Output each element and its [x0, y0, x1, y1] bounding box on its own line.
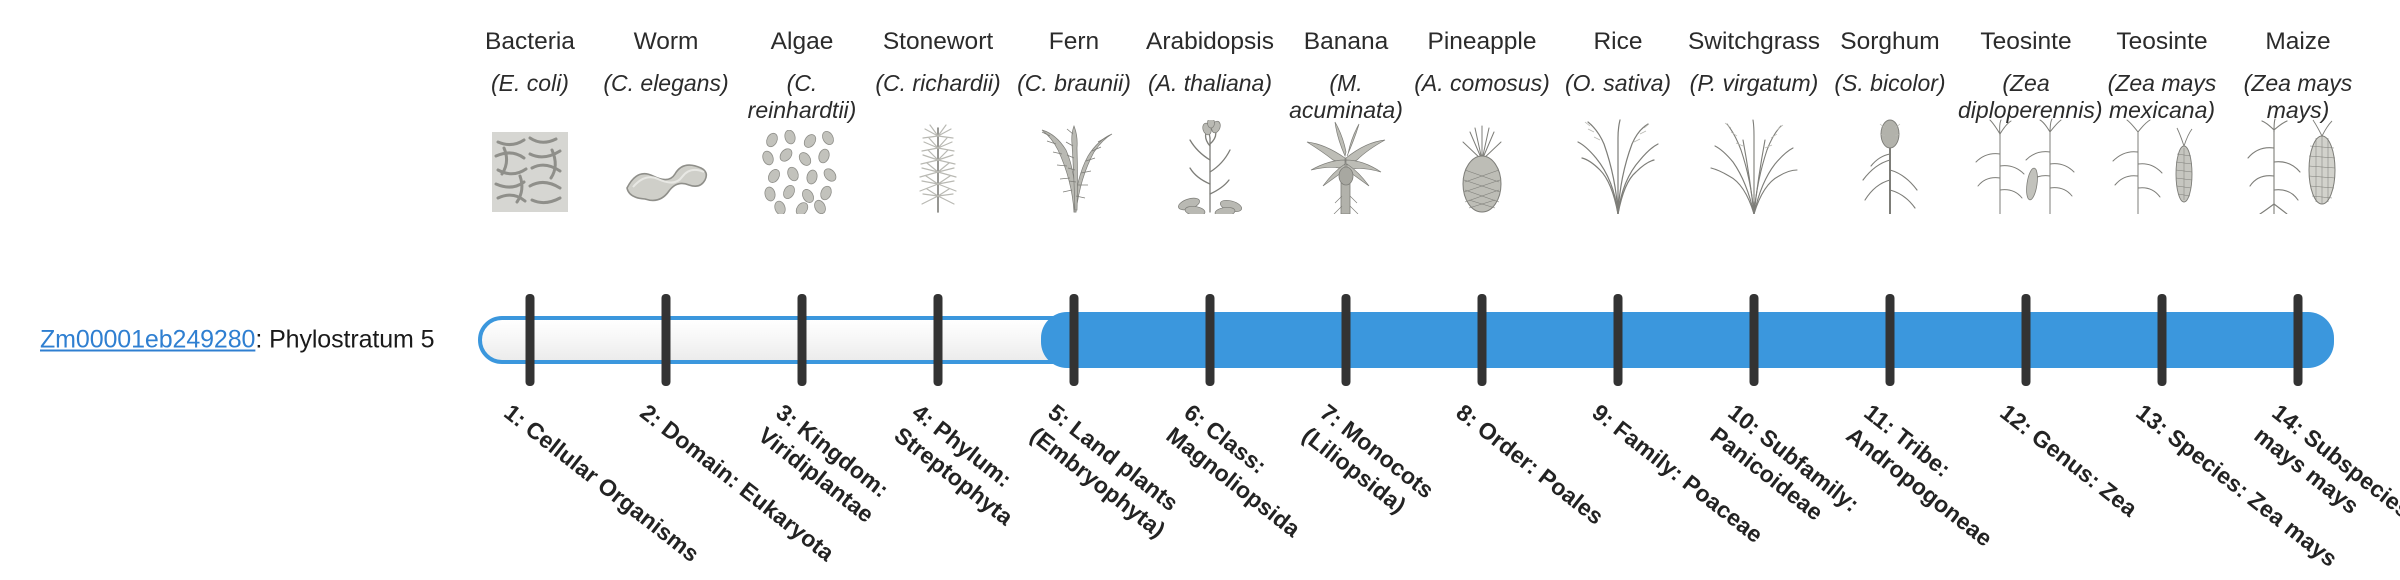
- phylostratum-tick: [526, 294, 535, 386]
- pineapple-illustration: [1430, 116, 1534, 214]
- species-column: Fern(C. braunii): [1006, 28, 1142, 97]
- species-column: Switchgrass(P. virgatum): [1686, 28, 1822, 97]
- maize-illustration: [2246, 116, 2350, 214]
- species-common-name: Arabidopsis: [1142, 28, 1278, 57]
- phylostratum-tick: [1886, 294, 1895, 386]
- phylostratum-tick: [934, 294, 943, 386]
- phylostratum-tick: [1070, 294, 1079, 386]
- phylostratum-tick: [1342, 294, 1351, 386]
- gene-phylostratum-status: Phylostratum 5: [269, 326, 434, 354]
- species-scientific-name: (A. comosus): [1414, 70, 1550, 97]
- species-row: Bacteria(E. coli) Worm(C. elegans) Algae…: [478, 28, 2330, 298]
- arabidopsis-illustration: [1158, 116, 1262, 214]
- phylostratum-progress-bar[interactable]: [478, 316, 2330, 364]
- species-common-name: Bacteria: [462, 28, 598, 57]
- species-scientific-name: (C. richardii): [870, 70, 1006, 97]
- phylostratum-tick: [1614, 294, 1623, 386]
- stratum-name: Order: Poales: [1473, 416, 1609, 530]
- species-common-name: Rice: [1550, 28, 1686, 57]
- bacteria-illustration: [478, 116, 582, 214]
- species-column: Pineapple(A. comosus): [1414, 28, 1550, 97]
- phylostratum-tick: [1206, 294, 1215, 386]
- species-column: Rice(O. sativa): [1550, 28, 1686, 97]
- species-scientific-name: (E. coli): [462, 70, 598, 97]
- rice-illustration: [1566, 116, 1670, 214]
- teosinte-diplo-illustration: [1974, 116, 2078, 214]
- stratum-name: Genus: Zea: [2027, 423, 2143, 521]
- phylostratum-tick: [2022, 294, 2031, 386]
- species-scientific-name: (P. virgatum): [1686, 70, 1822, 97]
- species-scientific-name: (A. thaliana): [1142, 70, 1278, 97]
- species-column: Algae(C. reinhardtii): [734, 28, 870, 124]
- phylostratum-tick: [1478, 294, 1487, 386]
- gene-label-separator: :: [255, 326, 269, 354]
- switchgrass-illustration: [1702, 116, 1806, 214]
- sorghum-illustration: [1838, 116, 1942, 214]
- species-common-name: Maize: [2230, 28, 2366, 57]
- stonewort-illustration: [886, 116, 990, 214]
- species-scientific-name: (C. elegans): [598, 70, 734, 97]
- species-column: Arabidopsis(A. thaliana): [1142, 28, 1278, 97]
- species-column: Bacteria(E. coli): [462, 28, 598, 97]
- species-column: Stonewort(C. richardii): [870, 28, 1006, 97]
- species-scientific-name: (O. sativa): [1550, 70, 1686, 97]
- species-common-name: Teosinte: [2094, 28, 2230, 57]
- phylostratum-figure: Zm00001eb249280: Phylostratum 5 Bacteria…: [0, 0, 2400, 580]
- gene-label: Zm00001eb249280: Phylostratum 5: [40, 326, 434, 355]
- species-common-name: Sorghum: [1822, 28, 1958, 57]
- fern-illustration: [1022, 116, 1126, 214]
- teosinte-mex-illustration: [2110, 116, 2214, 214]
- phylostratum-tick: [2294, 294, 2303, 386]
- species-column: Sorghum(S. bicolor): [1822, 28, 1958, 97]
- species-common-name: Banana: [1278, 28, 1414, 57]
- species-column: Maize(Zea mays mays): [2230, 28, 2366, 124]
- stratum-number: 12:: [1995, 399, 2037, 440]
- phylostratum-tick: [662, 294, 671, 386]
- phylostratum-tick: [2158, 294, 2167, 386]
- species-scientific-name: (S. bicolor): [1822, 70, 1958, 97]
- species-common-name: Worm: [598, 28, 734, 57]
- species-common-name: Teosinte: [1958, 28, 2094, 57]
- species-common-name: Pineapple: [1414, 28, 1550, 57]
- species-common-name: Algae: [734, 28, 870, 57]
- phylostratum-tick: [798, 294, 807, 386]
- species-scientific-name: (C. braunii): [1006, 70, 1142, 97]
- species-column: Teosinte(Zea mays mexicana): [2094, 28, 2230, 124]
- gene-id-link[interactable]: Zm00001eb249280: [40, 326, 255, 354]
- species-common-name: Fern: [1006, 28, 1142, 57]
- species-common-name: Switchgrass: [1686, 28, 1822, 57]
- worm-illustration: [614, 116, 718, 214]
- species-common-name: Stonewort: [870, 28, 1006, 57]
- stratum-number: 13:: [2131, 399, 2173, 440]
- species-column: Banana(M. acuminata): [1278, 28, 1414, 124]
- species-column: Teosinte(Zea diploperennis): [1958, 28, 2094, 124]
- species-column: Worm(C. elegans): [598, 28, 734, 97]
- progress-fill: [1041, 312, 2334, 368]
- algae-illustration: [750, 116, 854, 214]
- phylostratum-tick: [1750, 294, 1759, 386]
- banana-illustration: [1294, 116, 1398, 214]
